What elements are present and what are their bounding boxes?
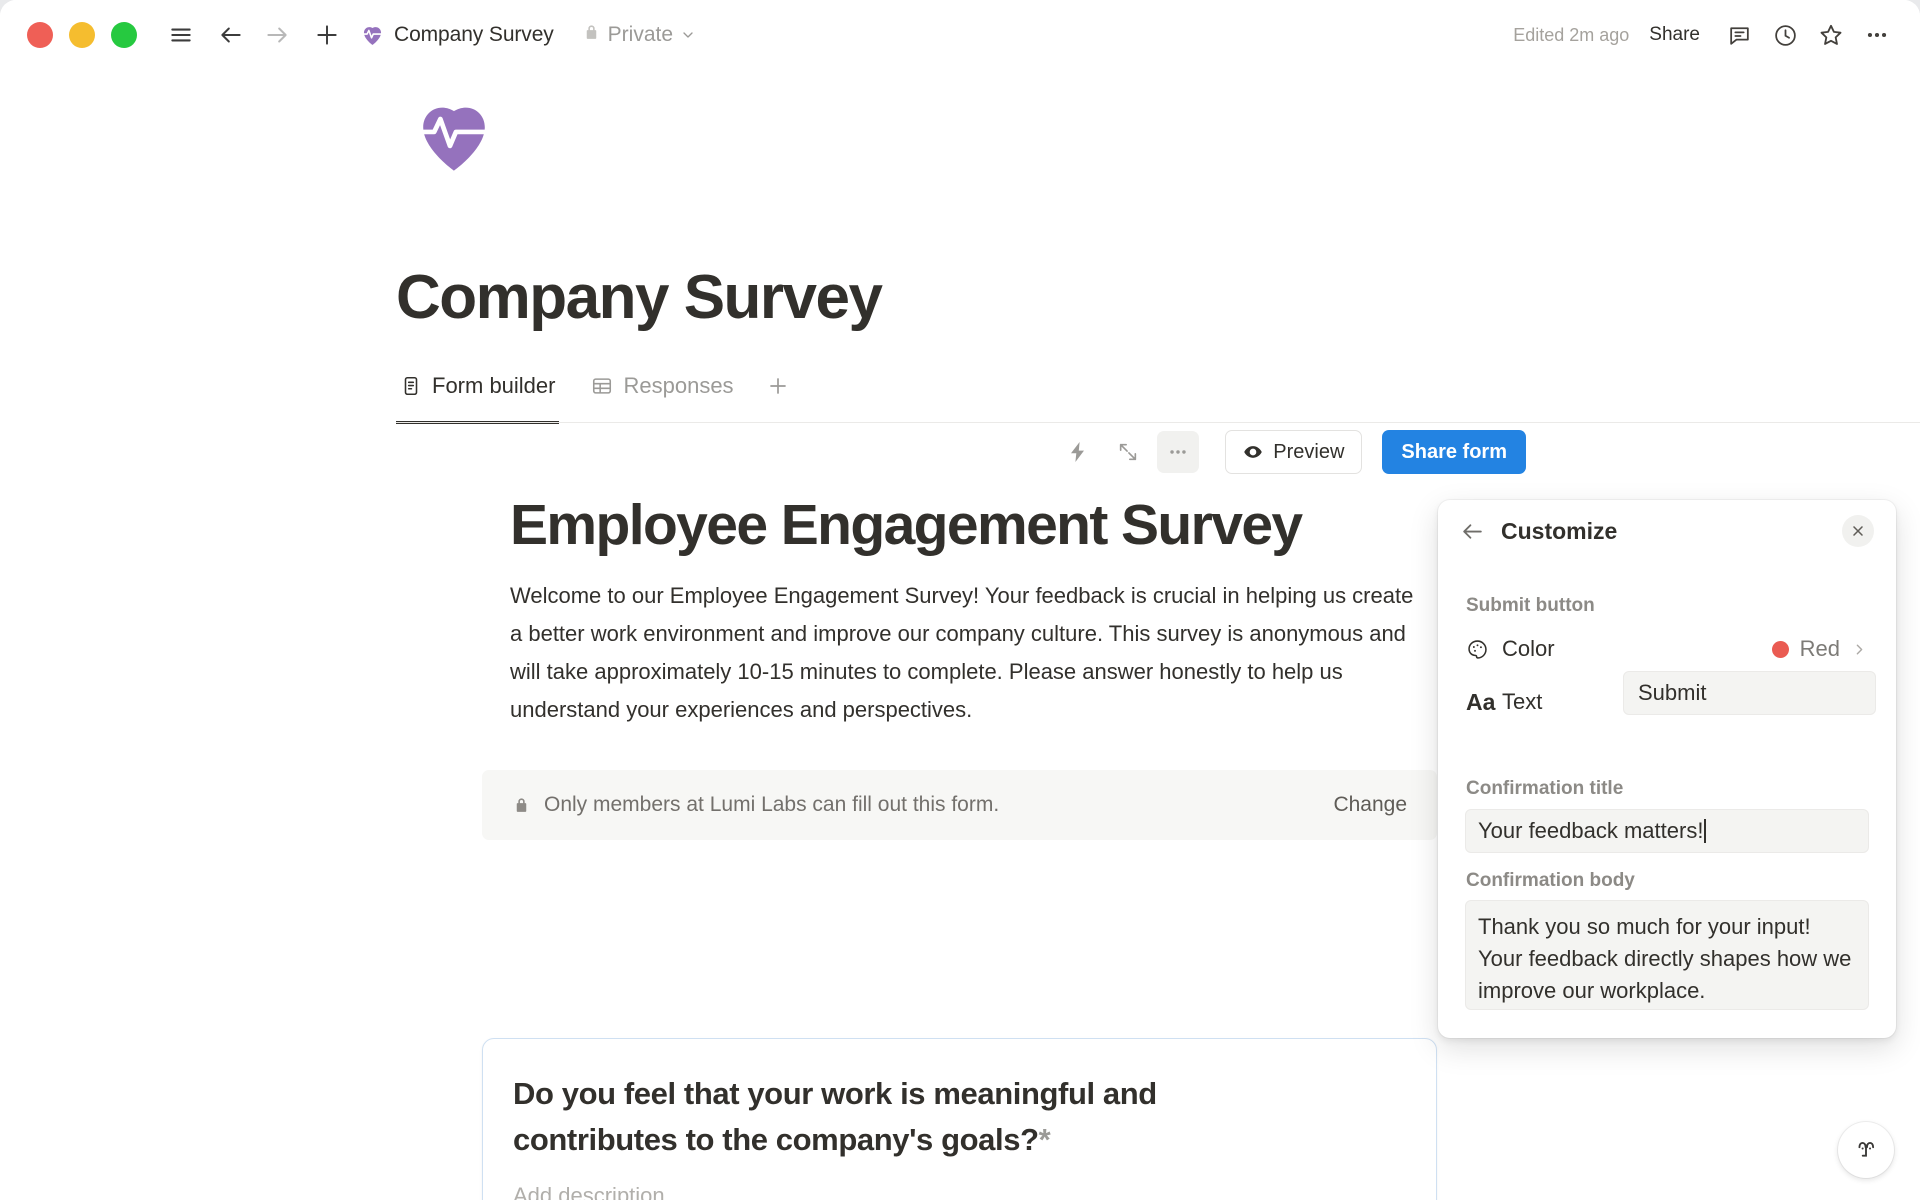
chevron-right-icon bbox=[1851, 641, 1868, 658]
text-caret bbox=[1704, 819, 1706, 843]
star-icon[interactable] bbox=[1810, 14, 1852, 56]
submit-button-section-label: Submit button bbox=[1466, 595, 1595, 617]
hamburger-icon[interactable] bbox=[161, 15, 201, 55]
question-title[interactable]: Do you feel that your work is meaningful… bbox=[513, 1071, 1213, 1163]
form-doc-icon bbox=[400, 375, 422, 397]
form-description[interactable]: Welcome to our Employee Engagement Surve… bbox=[510, 577, 1430, 729]
close-window-button[interactable] bbox=[27, 22, 53, 48]
chevron-down-icon bbox=[680, 27, 696, 43]
new-page-plus-icon[interactable] bbox=[307, 15, 347, 55]
lock-icon bbox=[512, 796, 531, 815]
form-toolbar: Preview Share form bbox=[1057, 430, 1526, 474]
forward-arrow-icon[interactable] bbox=[257, 15, 297, 55]
preview-label: Preview bbox=[1273, 441, 1344, 464]
eye-icon bbox=[1243, 442, 1263, 462]
tab-bar-divider bbox=[396, 422, 1920, 423]
preview-button[interactable]: Preview bbox=[1225, 430, 1362, 474]
page-body: Company Survey Form builder Responses bbox=[0, 70, 1920, 1200]
privacy-selector[interactable]: Private bbox=[582, 23, 696, 47]
required-marker: * bbox=[1039, 1122, 1051, 1157]
text-row-label: Text bbox=[1502, 689, 1542, 715]
palette-icon bbox=[1466, 638, 1496, 661]
app-window: Company Survey Private Edited 2m ago Sha… bbox=[0, 0, 1920, 1200]
confirmation-body-input[interactable]: Thank you so much for your input! Your f… bbox=[1465, 900, 1869, 1010]
access-notice: Only members at Lumi Labs can fill out t… bbox=[482, 770, 1437, 840]
customize-panel-header: Customize bbox=[1438, 500, 1896, 562]
share-form-button[interactable]: Share form bbox=[1382, 430, 1526, 474]
customize-panel: Customize Submit button Color bbox=[1438, 500, 1896, 1038]
font-size-icon: Aa bbox=[1466, 689, 1496, 716]
notion-ai-face-icon[interactable] bbox=[1838, 1122, 1894, 1178]
page-title[interactable]: Company Survey bbox=[396, 262, 882, 333]
minimize-window-button[interactable] bbox=[69, 22, 95, 48]
add-tab-button[interactable] bbox=[766, 374, 790, 398]
tab-form-builder[interactable]: Form builder bbox=[396, 358, 559, 414]
confirmation-title-label: Confirmation title bbox=[1466, 778, 1623, 800]
confirmation-body-label: Confirmation body bbox=[1466, 870, 1635, 892]
tab-label: Form builder bbox=[432, 373, 555, 399]
color-row-value: Red bbox=[1800, 636, 1840, 662]
customize-panel-title: Customize bbox=[1501, 518, 1617, 545]
more-options-icon[interactable] bbox=[1157, 431, 1199, 473]
tab-label: Responses bbox=[623, 373, 733, 399]
lock-icon bbox=[582, 23, 601, 47]
share-button[interactable]: Share bbox=[1649, 24, 1700, 46]
change-access-button[interactable]: Change bbox=[1333, 793, 1407, 817]
back-arrow-icon[interactable] bbox=[1460, 519, 1485, 544]
table-icon bbox=[591, 375, 613, 397]
tab-responses[interactable]: Responses bbox=[587, 358, 737, 414]
comment-icon[interactable] bbox=[1718, 14, 1760, 56]
window-controls bbox=[27, 22, 137, 48]
color-swatch bbox=[1772, 641, 1789, 658]
color-row-label: Color bbox=[1502, 636, 1555, 662]
window-titlebar: Company Survey Private Edited 2m ago Sha… bbox=[0, 0, 1920, 70]
back-arrow-icon[interactable] bbox=[211, 15, 251, 55]
submit-color-row[interactable]: Color Red bbox=[1458, 627, 1876, 671]
expand-icon[interactable] bbox=[1107, 431, 1149, 473]
document-title: Company Survey bbox=[394, 23, 554, 47]
submit-text-input[interactable]: Submit bbox=[1623, 671, 1876, 715]
edited-status: Edited 2m ago bbox=[1513, 25, 1629, 46]
question-card[interactable]: Do you feel that your work is meaningful… bbox=[482, 1038, 1437, 1200]
question-description-input[interactable]: Add description bbox=[513, 1183, 665, 1200]
maximize-window-button[interactable] bbox=[111, 22, 137, 48]
form-heading[interactable]: Employee Engagement Survey bbox=[510, 492, 1302, 558]
lightning-icon[interactable] bbox=[1057, 431, 1099, 473]
titlebar-actions: Edited 2m ago Share bbox=[1513, 14, 1898, 56]
confirmation-title-input[interactable]: Your feedback matters! bbox=[1465, 809, 1869, 853]
more-options-icon[interactable] bbox=[1856, 14, 1898, 56]
tab-bar: Form builder Responses bbox=[396, 358, 1526, 414]
privacy-label: Private bbox=[608, 23, 673, 47]
history-icon[interactable] bbox=[1764, 14, 1806, 56]
access-notice-text: Only members at Lumi Labs can fill out t… bbox=[544, 793, 999, 817]
close-icon[interactable] bbox=[1842, 515, 1874, 547]
breadcrumb[interactable]: Company Survey bbox=[359, 22, 554, 48]
share-form-label: Share form bbox=[1401, 441, 1507, 464]
heartbeat-icon bbox=[359, 22, 385, 48]
page-icon[interactable] bbox=[412, 95, 496, 179]
